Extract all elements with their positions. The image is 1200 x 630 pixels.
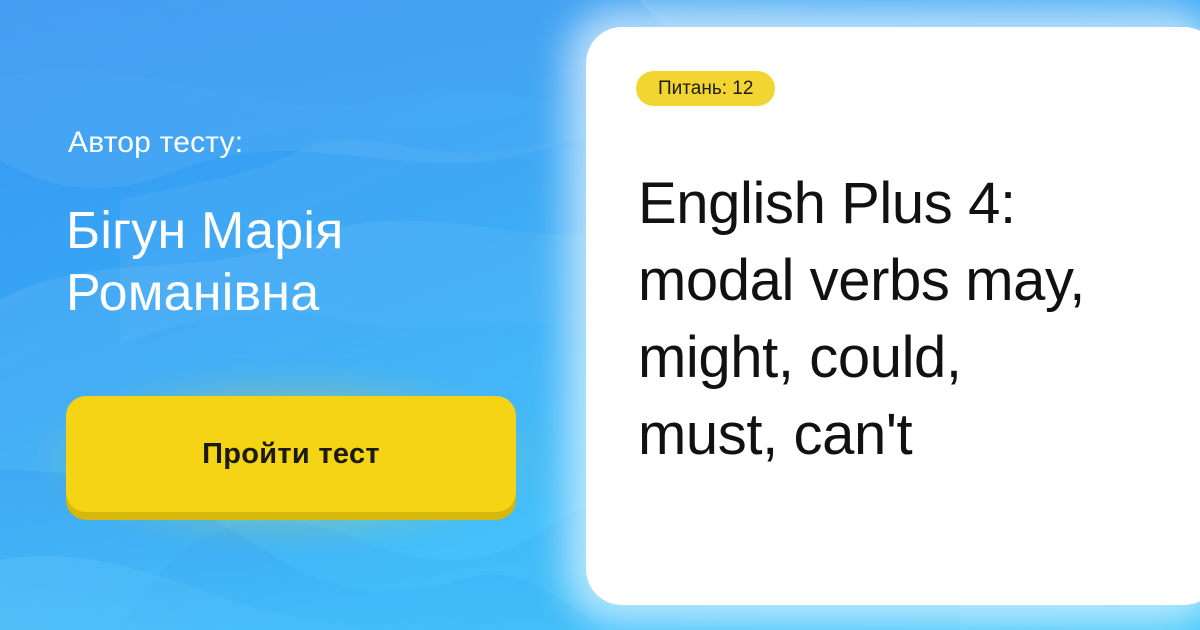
question-count-badge: Питань: 12 bbox=[636, 71, 775, 106]
promo-card-stage: Автор тесту: Бігун Марія Романівна Пройт… bbox=[0, 0, 1200, 630]
take-test-button[interactable]: Пройти тест bbox=[66, 396, 516, 512]
author-panel: Автор тесту: Бігун Марія Романівна Пройт… bbox=[0, 0, 586, 630]
test-info-card[interactable]: Питань: 12 English Plus 4: modal verbs m… bbox=[586, 27, 1200, 605]
test-title: English Plus 4: modal verbs may, might, … bbox=[638, 165, 1098, 473]
author-name: Бігун Марія Романівна bbox=[66, 200, 536, 324]
author-label: Автор тесту: bbox=[68, 126, 243, 160]
take-test-button-wrapper: Пройти тест bbox=[66, 396, 516, 520]
